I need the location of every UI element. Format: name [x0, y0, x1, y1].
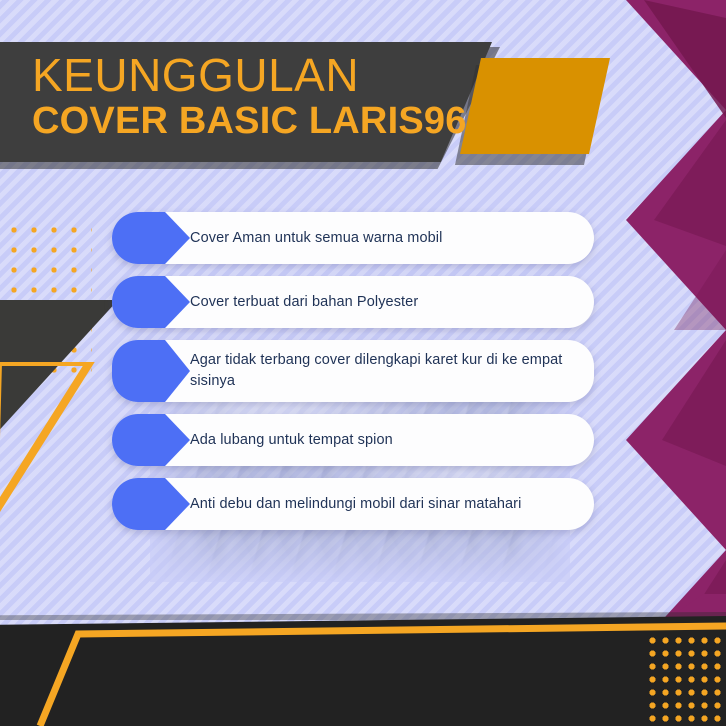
benefit-label: Cover Aman untuk semua warna mobil — [190, 228, 442, 249]
header-accent-shape — [460, 58, 610, 154]
footer-accent-line-icon — [0, 622, 726, 726]
arrow-marker-icon — [112, 212, 190, 264]
arrow-marker-icon — [112, 478, 190, 530]
list-item[interactable]: Agar tidak terbang cover dilengkapi kare… — [112, 340, 594, 402]
header-title-group: KEUNGGULAN COVER BASIC LARIS96 — [32, 52, 462, 140]
benefit-label: Agar tidak terbang cover dilengkapi kare… — [190, 350, 572, 391]
benefit-pill-body[interactable]: Cover terbuat dari bahan Polyester — [112, 276, 594, 328]
benefit-pill-body[interactable]: Ada lubang untuk tempat spion — [112, 414, 594, 466]
arrow-marker-icon — [112, 340, 190, 402]
benefit-label: Cover terbuat dari bahan Polyester — [190, 292, 418, 313]
page-title-secondary: COVER BASIC LARIS96 — [32, 102, 462, 140]
benefit-pill-body[interactable]: Agar tidak terbang cover dilengkapi kare… — [112, 340, 594, 402]
orange-outline-triangle-icon — [0, 362, 100, 522]
arrow-marker-icon — [112, 276, 190, 328]
page-title-primary: KEUNGGULAN — [32, 52, 462, 98]
benefit-label: Anti debu dan melindungi mobil dari sina… — [190, 494, 521, 515]
list-item[interactable]: Cover Aman untuk semua warna mobil — [112, 212, 594, 264]
benefit-label: Ada lubang untuk tempat spion — [190, 430, 393, 451]
list-item[interactable]: Anti debu dan melindungi mobil dari sina… — [112, 478, 594, 530]
footer-dot-grid-icon — [646, 634, 726, 726]
benefits-list: Cover Aman untuk semua warna mobil Cover… — [112, 212, 594, 542]
list-item[interactable]: Cover terbuat dari bahan Polyester — [112, 276, 594, 328]
list-item[interactable]: Ada lubang untuk tempat spion — [112, 414, 594, 466]
benefit-pill-body[interactable]: Anti debu dan melindungi mobil dari sina… — [112, 478, 594, 530]
benefit-pill-body[interactable]: Cover Aman untuk semua warna mobil — [112, 212, 594, 264]
infographic-poster: KEUNGGULAN COVER BASIC LARIS96 Cover Ama… — [0, 0, 726, 726]
arrow-marker-icon — [112, 414, 190, 466]
